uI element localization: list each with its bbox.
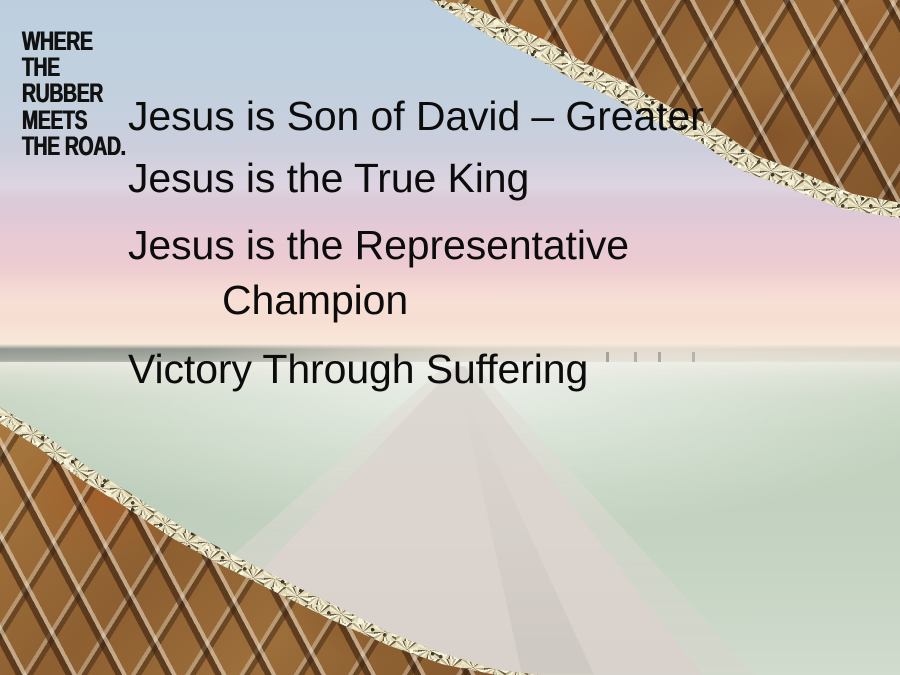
slide-body-text: Jesus is Son of David – Greater Jesus is… — [0, 96, 900, 390]
bullet-line-4: Victory Through Suffering — [0, 349, 900, 390]
bullet-line-3-wrap: Champion — [0, 280, 900, 321]
logo-line-2: THE — [22, 54, 103, 80]
bullet-line-1: Jesus is Son of David – Greater — [0, 96, 900, 137]
bullet-line-3: Jesus is the Representative — [0, 225, 900, 266]
presentation-slide: WHERE THE RUBBER MEETS THE ROAD. Jesus i… — [0, 0, 900, 675]
bullet-line-2: Jesus is the True King — [0, 158, 900, 199]
logo-line-1: WHERE — [22, 28, 103, 54]
